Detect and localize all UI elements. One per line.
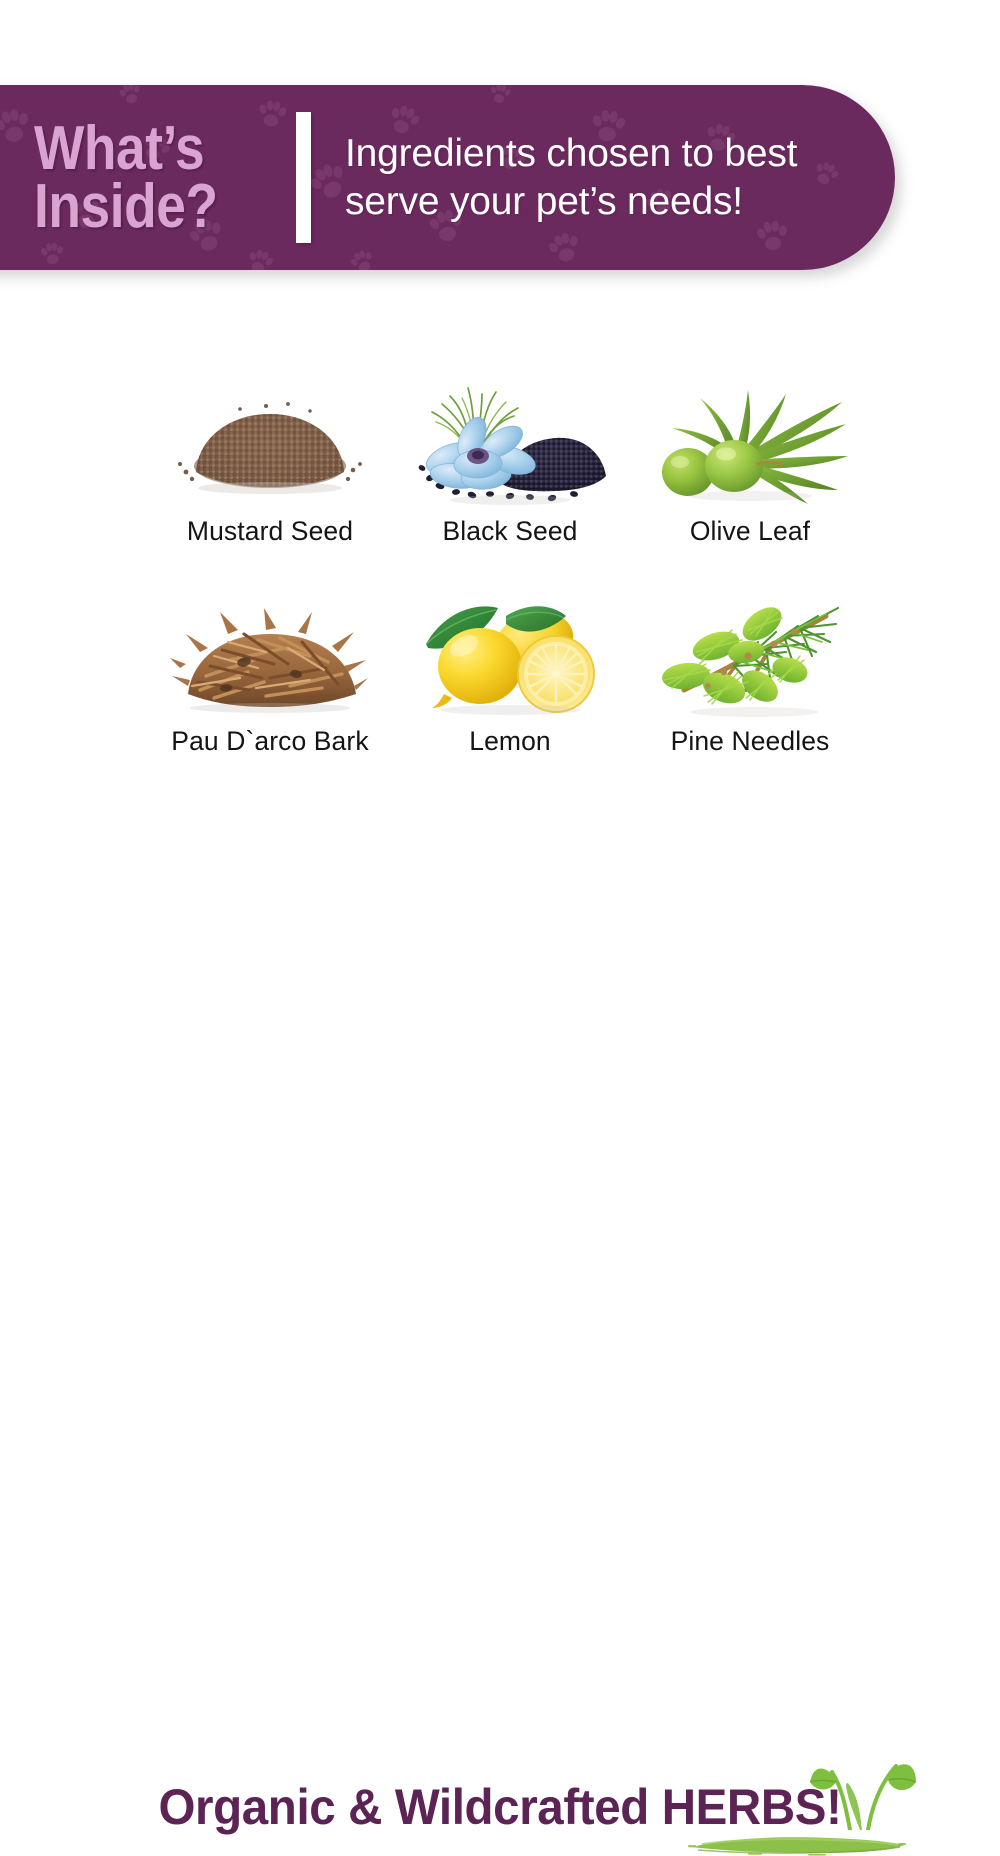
ingredient-label: Mustard Seed [187,516,353,547]
ingredient-item: Lemon [390,590,630,800]
ingredient-label: Pine Needles [671,726,830,757]
olive-leaf-icon [650,380,850,512]
ingredient-item: Black Seed [390,380,630,590]
mustard-seed-pile-icon [170,380,370,512]
ingredient-label: Lemon [469,726,551,757]
header-banner: What’s Inside? Ingredients chosen to bes… [0,85,895,270]
pine-needles-icon [650,590,850,722]
pau-darco-bark-icon [170,590,370,722]
lemon-icon [410,590,610,722]
ingredients-grid: Mustard Seed [150,380,870,800]
ingredient-item: Olive Leaf [630,380,870,590]
page-title: What’s Inside? [34,120,259,234]
black-seed-flower-icon [410,380,610,512]
header-content: What’s Inside? Ingredients chosen to bes… [0,85,895,270]
footer: Organic & Wildcrafted HERBS! [0,880,1000,1000]
ingredient-item: Mustard Seed [150,380,390,590]
ingredient-label: Black Seed [442,516,577,547]
ingredient-label: Olive Leaf [690,516,810,547]
ingredient-item: Pine Needles [630,590,870,800]
ingredient-item: Pau D`arco Bark [150,590,390,800]
footer-tagline: Organic & Wildcrafted HERBS! [25,1778,975,1836]
header-divider [296,112,311,243]
header-subtitle: Ingredients chosen to best serve your pe… [345,130,797,225]
ingredient-label: Pau D`arco Bark [171,726,368,757]
